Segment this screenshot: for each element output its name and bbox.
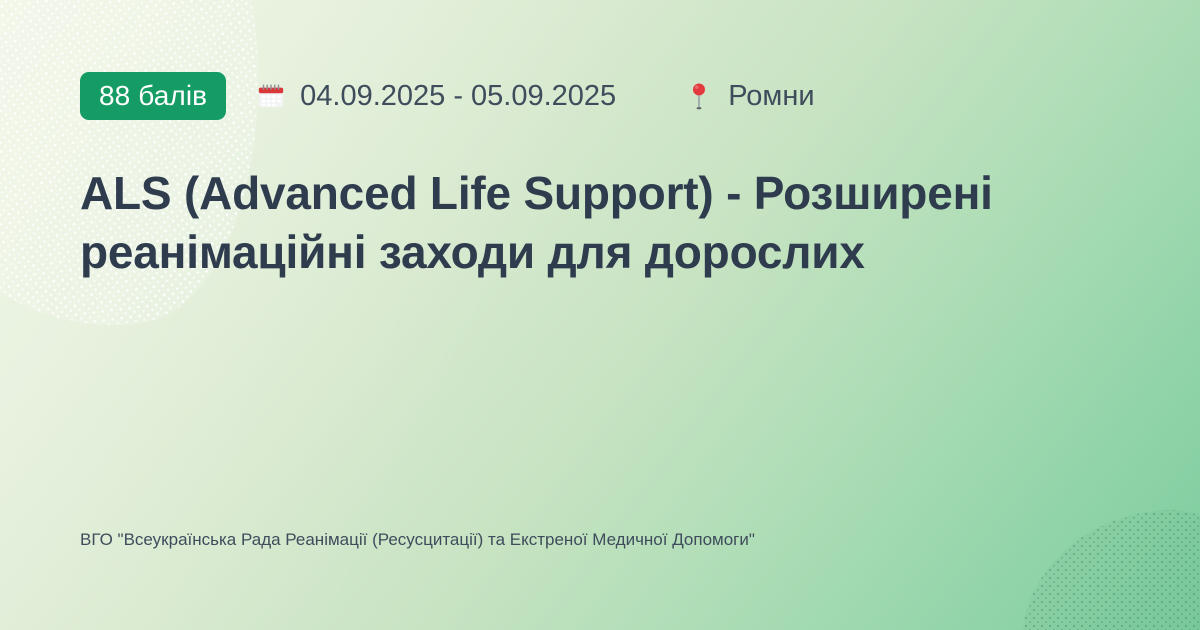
event-location-text: Ромни: [728, 82, 814, 111]
event-card: 88 балів: [0, 0, 1200, 630]
event-location: Ромни: [684, 80, 814, 112]
page-title: ALS (Advanced Life Support) - Розширені …: [80, 164, 1090, 282]
location-pin-icon: [684, 80, 714, 112]
event-date: 04.09.2025 - 05.09.2025: [256, 80, 616, 112]
meta-row: 88 балів: [80, 72, 1120, 120]
organizer-name: ВГО "Всеукраїнська Рада Реанімації (Ресу…: [80, 527, 960, 553]
calendar-icon: [256, 80, 286, 112]
event-date-text: 04.09.2025 - 05.09.2025: [300, 82, 616, 111]
points-badge: 88 балів: [80, 72, 226, 120]
